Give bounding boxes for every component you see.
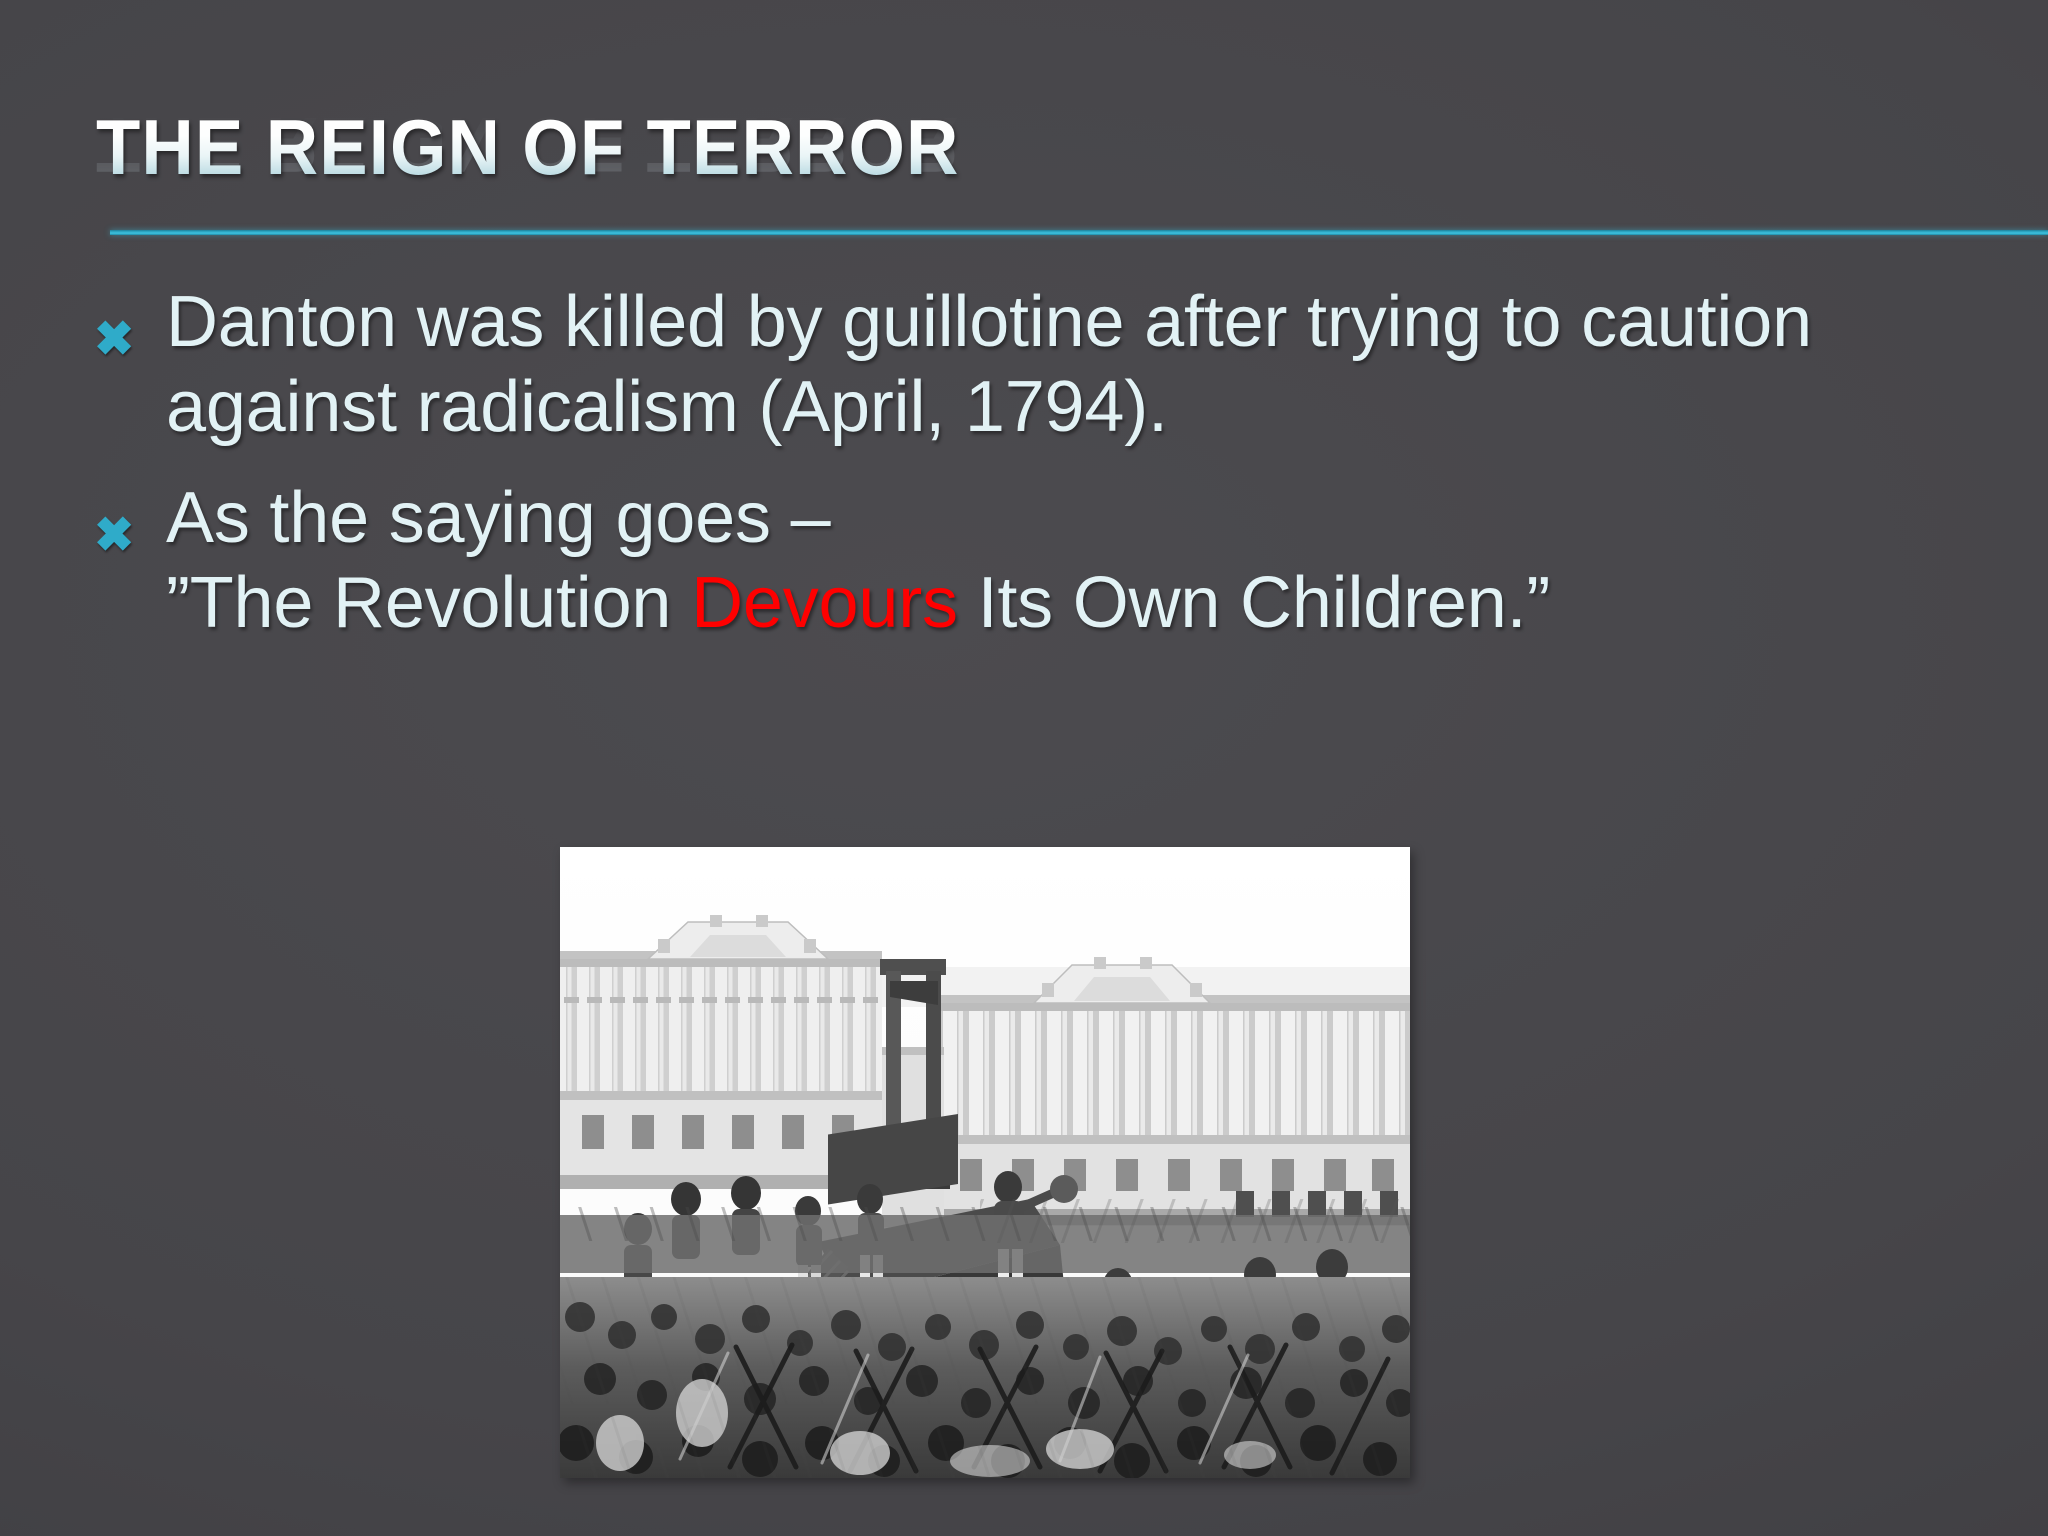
quote-highlight-word: Devours	[691, 563, 958, 643]
page-title: The Reign of Terror	[96, 108, 1826, 186]
quote-close-segment: Its Own Children.”	[958, 563, 1550, 643]
cross-bullet-icon: ✖	[80, 280, 166, 364]
slide-title-block: The Reign of Terror The Reign of Terror	[96, 108, 1956, 288]
list-item: ✖ As the saying goes – ”The Revolution D…	[80, 476, 1980, 646]
presentation-slide: The Reign of Terror The Reign of Terror …	[0, 0, 2048, 1536]
quote-open-segment: ”The Revolution	[166, 563, 691, 643]
bullet-text-2: As the saying goes – ”The Revolution Dev…	[166, 476, 1980, 646]
list-item: ✖ Danton was killed by guillotine after …	[80, 280, 1980, 450]
bullet-text-1: Danton was killed by guillotine after tr…	[166, 280, 1980, 450]
guillotine-execution-image	[560, 847, 1410, 1478]
slide-body: ✖ Danton was killed by guillotine after …	[80, 280, 1980, 672]
title-underline-rule	[110, 230, 2048, 235]
saying-intro-line: As the saying goes –	[166, 478, 830, 558]
cross-bullet-icon: ✖	[80, 476, 166, 560]
